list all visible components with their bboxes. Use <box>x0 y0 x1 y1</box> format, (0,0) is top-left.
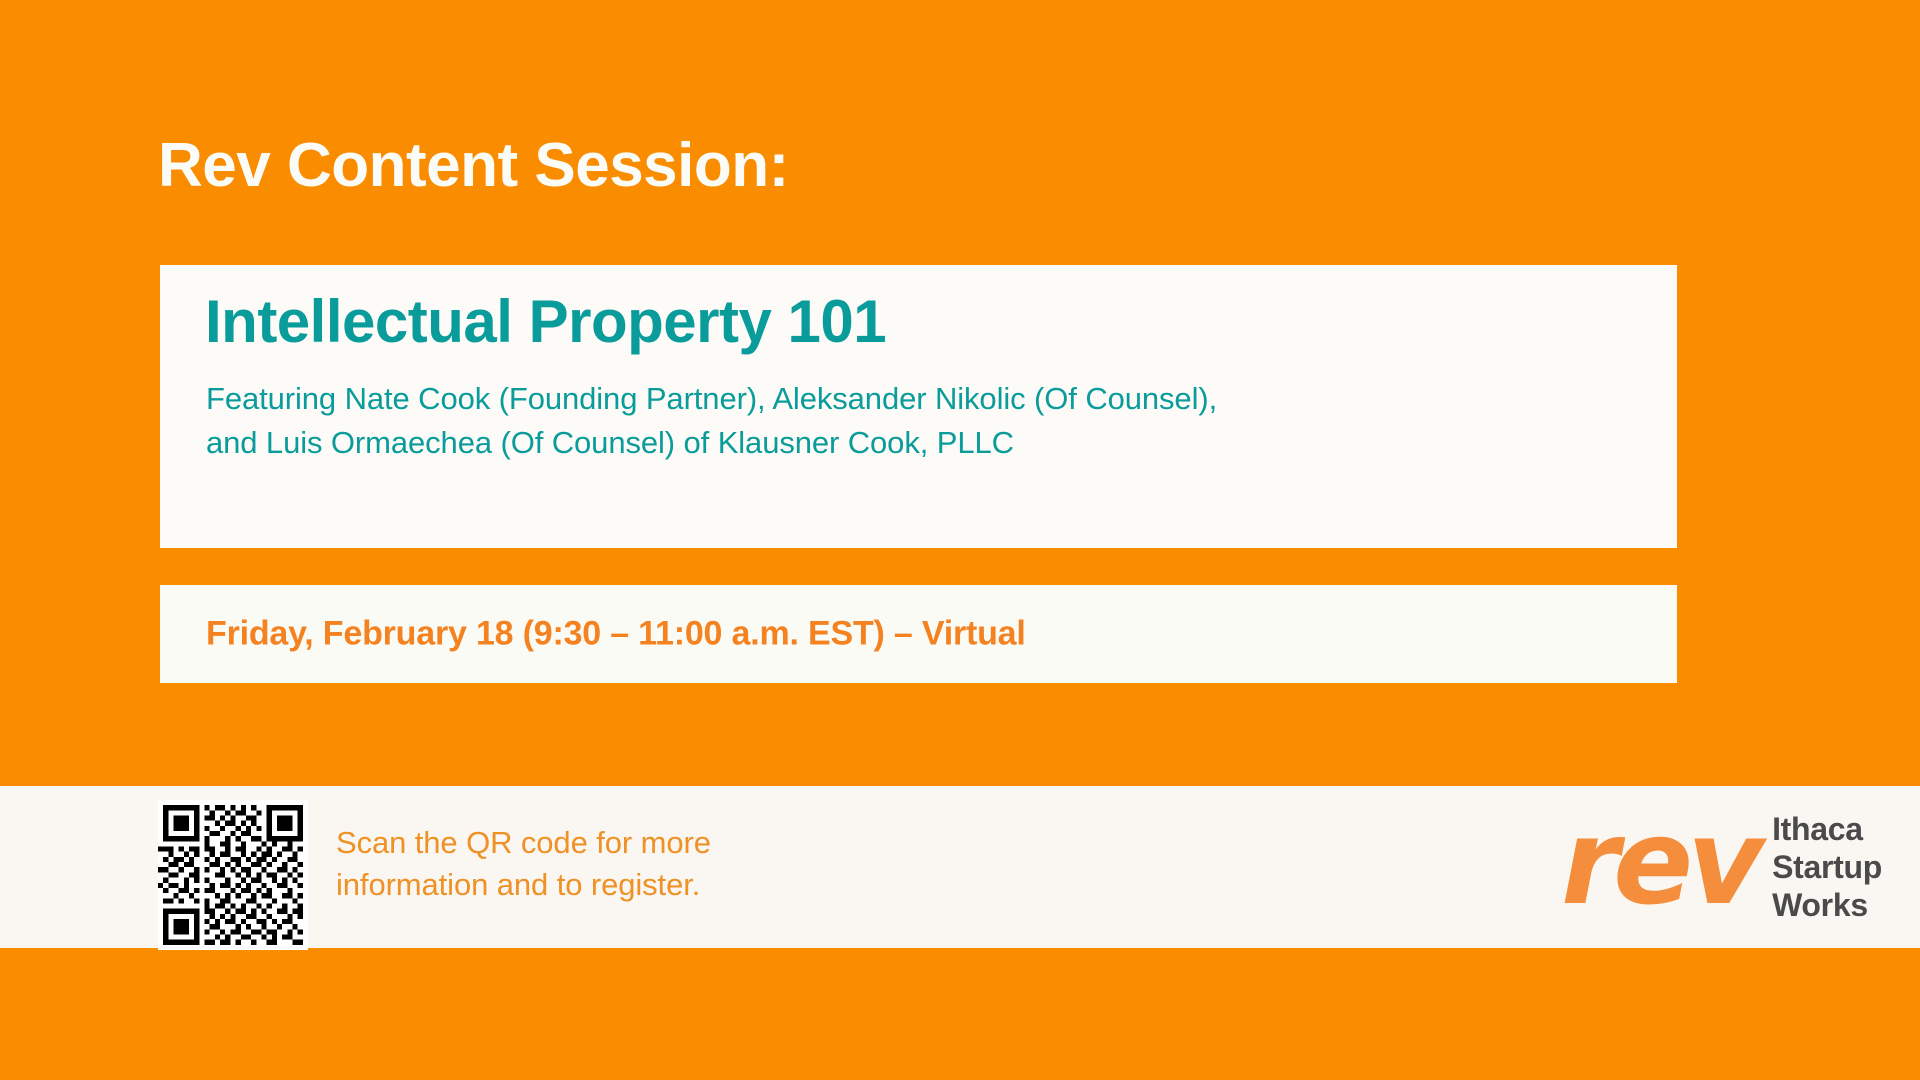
speakers-line-2: and Luis Ormaechea (Of Counsel) of Klaus… <box>206 421 1646 465</box>
qr-code-icon[interactable] <box>158 800 308 950</box>
logo-tagline-line-1: Ithaca <box>1772 811 1882 849</box>
scan-line-1: Scan the QR code for more <box>336 822 711 864</box>
rev-logo: rev Ithaca Startup Works <box>1561 802 1882 930</box>
scan-line-2: information and to register. <box>336 864 711 906</box>
footer-band: Scan the QR code for more information an… <box>0 786 1920 948</box>
session-heading: Rev Content Session: <box>158 132 789 200</box>
event-speakers: Featuring Nate Cook (Founding Partner), … <box>206 377 1646 465</box>
event-poster: Rev Content Session: Intellectual Proper… <box>0 0 1920 1080</box>
rev-wordmark: rev <box>1561 816 1758 908</box>
speakers-line-1: Featuring Nate Cook (Founding Partner), … <box>206 377 1646 421</box>
scan-instructions: Scan the QR code for more information an… <box>336 822 711 906</box>
event-date-bar: Friday, February 18 (9:30 – 11:00 a.m. E… <box>160 585 1677 683</box>
logo-tagline-line-2: Startup <box>1772 849 1882 887</box>
logo-tagline: Ithaca Startup Works <box>1772 811 1882 924</box>
event-title: Intellectual Property 101 <box>205 287 886 356</box>
main-info-card: Intellectual Property 101 Featuring Nate… <box>160 265 1677 548</box>
event-datetime: Friday, February 18 (9:30 – 11:00 a.m. E… <box>206 615 1026 654</box>
logo-tagline-line-3: Works <box>1772 887 1882 925</box>
